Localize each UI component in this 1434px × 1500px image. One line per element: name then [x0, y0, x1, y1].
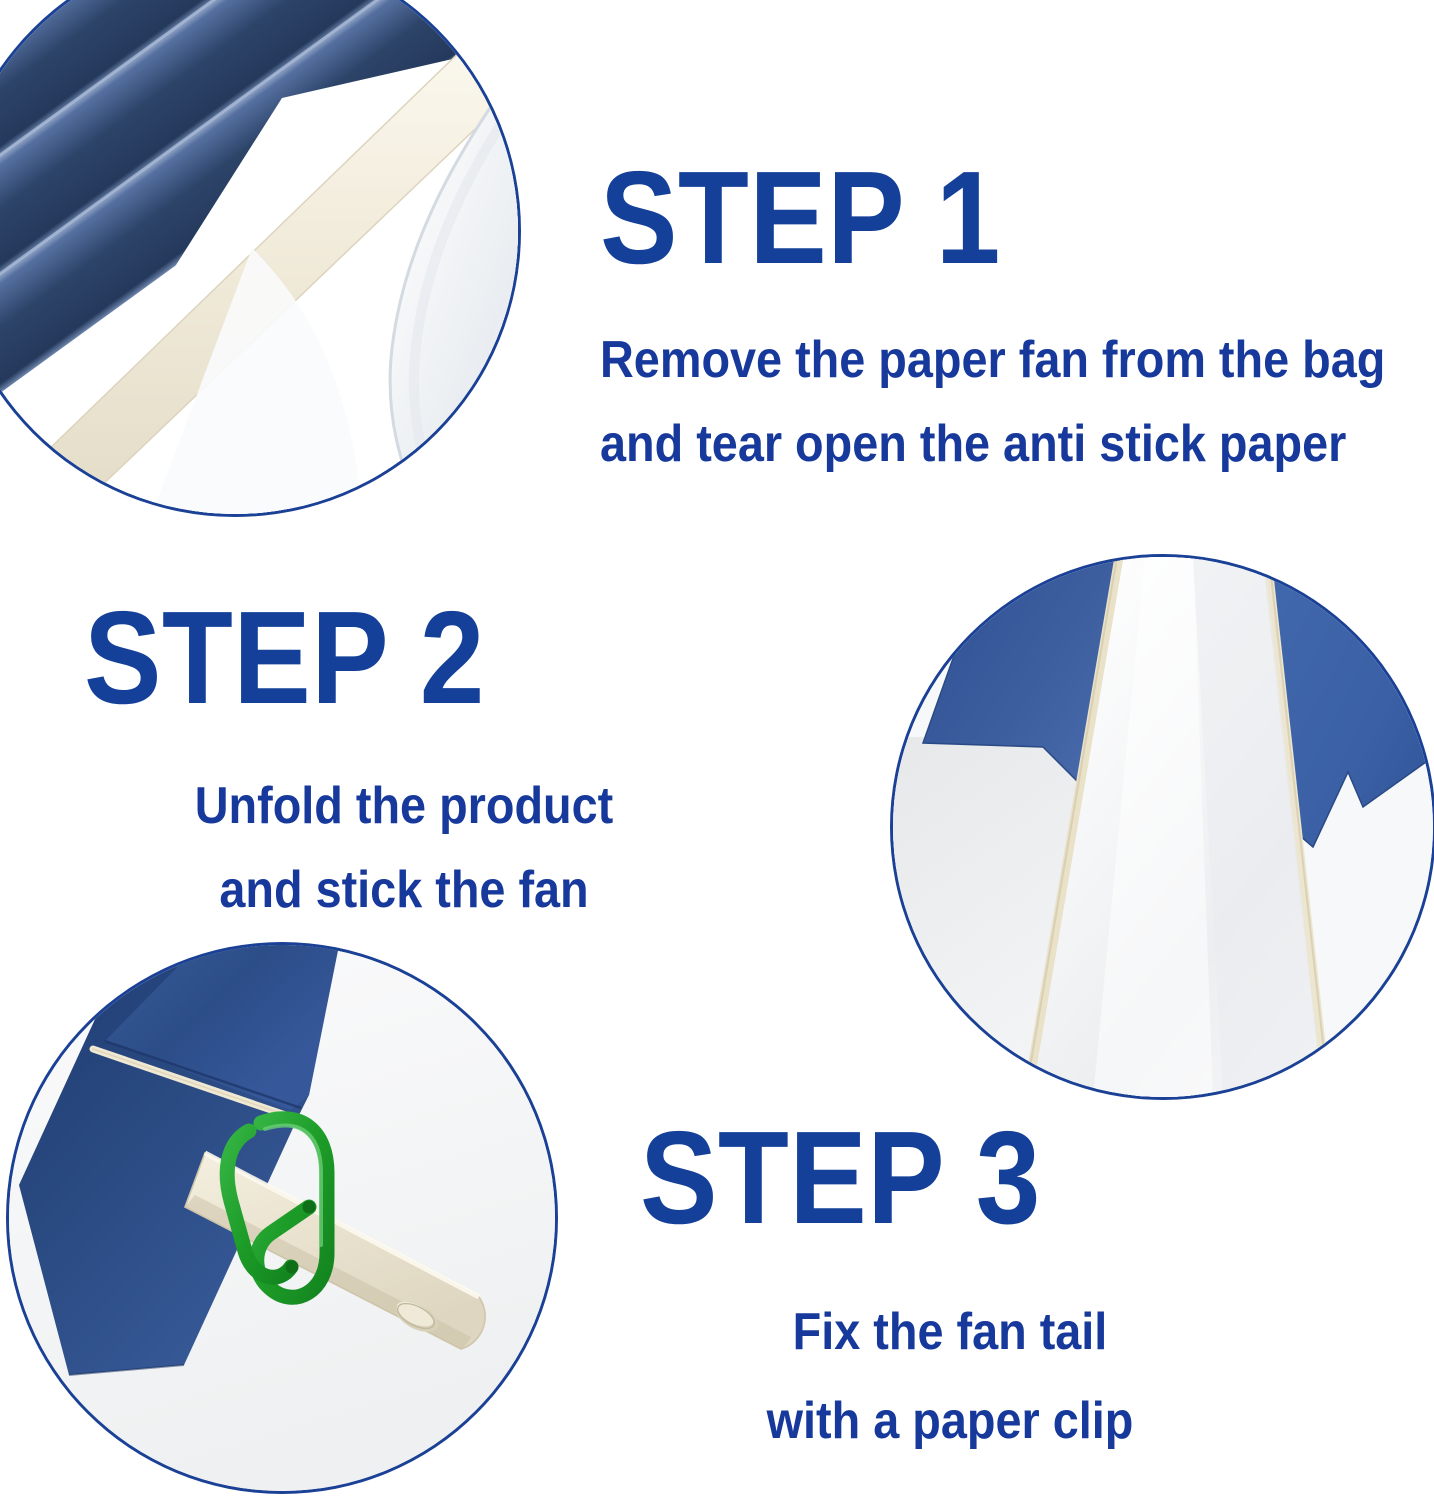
- photo-step-3: [9, 945, 555, 1491]
- step-2-description: Unfold the product and stick the fan: [116, 764, 692, 932]
- step-2-heading: STEP 2: [84, 592, 647, 724]
- step-3-line-2: with a paper clip: [671, 1377, 1229, 1466]
- step-2-line-2: and stick the fan: [116, 848, 692, 932]
- step-1-line-2: and tear open the anti stick paper: [600, 402, 1385, 486]
- step-2-line-1: Unfold the product: [116, 764, 692, 848]
- photo-step-1: [0, 0, 518, 514]
- step-1-line-1: Remove the paper fan from the bag: [600, 318, 1385, 402]
- step-3-line-1: Fix the fan tail: [671, 1288, 1229, 1377]
- photo-step-1-image: [0, 0, 518, 514]
- step-3-text-block: STEP 3 Fix the fan tail with a paper cli…: [640, 1112, 1260, 1467]
- step-1-text-block: STEP 1 Remove the paper fan from the bag…: [600, 152, 1434, 486]
- instruction-graphic: STEP 1 Remove the paper fan from the bag…: [0, 0, 1434, 1500]
- photo-step-2: [893, 557, 1433, 1097]
- step-3-description: Fix the fan tail with a paper clip: [671, 1288, 1229, 1467]
- step-1-description: Remove the paper fan from the bag and te…: [600, 318, 1385, 486]
- photo-step-2-image: [893, 557, 1433, 1097]
- step-2-text-block: STEP 2 Unfold the product and stick the …: [84, 592, 724, 932]
- step-1-heading: STEP 1: [600, 152, 1368, 284]
- step-3-heading: STEP 3: [640, 1112, 1186, 1244]
- photo-step-3-image: [9, 945, 555, 1491]
